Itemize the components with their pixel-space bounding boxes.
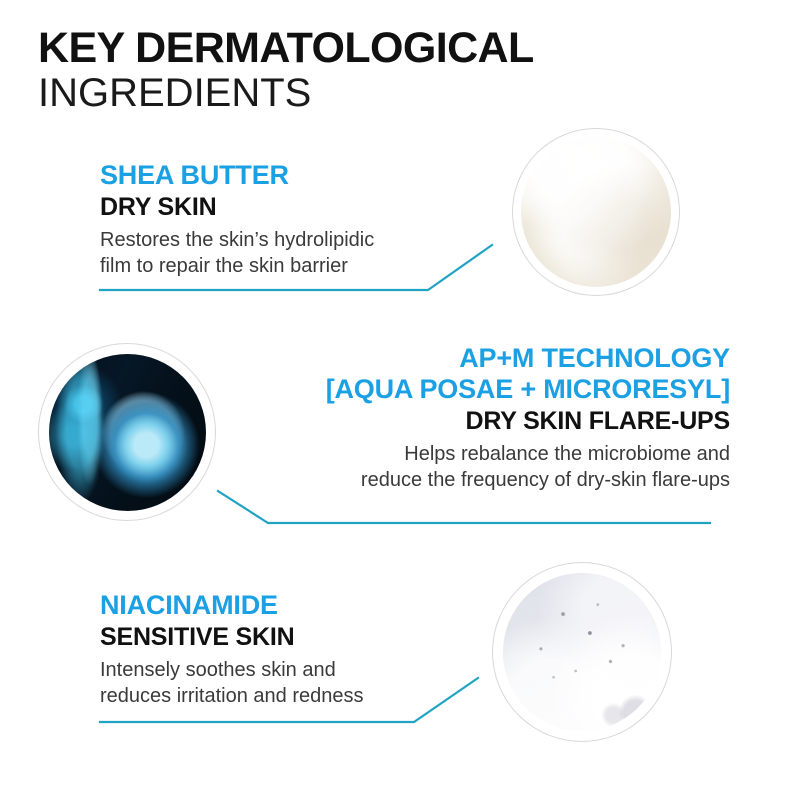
- ingredient-name-niacinamide: NIACINAMIDE: [100, 590, 500, 621]
- page-title-line-1: KEY DERMATOLOGICAL: [38, 26, 738, 71]
- benefit-line-1: Helps rebalance the microbiome and: [250, 441, 730, 467]
- skin-type-niacinamide: SENSITIVE SKIN: [100, 622, 500, 652]
- niacinamide-texture: [503, 573, 661, 731]
- section-shea-butter: SHEA BUTTER DRY SKIN Restores the skin’s…: [100, 160, 480, 280]
- benefit-text-shea-butter: Restores the skin’s hydrolipidic film to…: [100, 227, 480, 280]
- ingredient-name-apm-technology: AP+M TECHNOLOGY [AQUA POSAE + MICRORESYL…: [250, 343, 730, 405]
- section-niacinamide: NIACINAMIDE SENSITIVE SKIN Intensely soo…: [100, 590, 500, 710]
- skin-type-shea-butter: DRY SKIN: [100, 192, 480, 222]
- connector-line-apm-technology: [218, 491, 710, 523]
- benefit-line-2: film to repair the skin barrier: [100, 253, 480, 279]
- benefit-line-2: reduces irritation and redness: [100, 683, 500, 709]
- section-apm-technology: AP+M TECHNOLOGY [AQUA POSAE + MICRORESYL…: [250, 343, 730, 493]
- apm-technology-photo: [49, 354, 206, 511]
- ingredient-name-shea-butter: SHEA BUTTER: [100, 160, 480, 191]
- benefit-text-niacinamide: Intensely soothes skin and reduces irrit…: [100, 657, 500, 710]
- benefit-line-1: Restores the skin’s hydrolipidic: [100, 227, 480, 253]
- benefit-text-apm-technology: Helps rebalance the microbiome and reduc…: [250, 441, 730, 494]
- apm-technology-texture: [49, 354, 206, 511]
- infographic-root: KEY DERMATOLOGICAL INGREDIENTS SHEA BUTT…: [0, 0, 790, 790]
- niacinamide-photo: [503, 573, 661, 731]
- shea-butter-texture: [521, 137, 671, 287]
- benefit-line-1: Intensely soothes skin and: [100, 657, 500, 683]
- benefit-line-2: reduce the frequency of dry-skin flare-u…: [250, 467, 730, 493]
- ingredient-name-line-1: AP+M TECHNOLOGY: [250, 343, 730, 374]
- skin-type-apm-technology: DRY SKIN FLARE-UPS: [250, 406, 730, 436]
- ingredient-name-line-2: [AQUA POSAE + MICRORESYL]: [250, 374, 730, 405]
- page-title: KEY DERMATOLOGICAL INGREDIENTS: [38, 26, 738, 115]
- shea-butter-photo: [521, 137, 671, 287]
- page-title-line-2: INGREDIENTS: [38, 71, 738, 115]
